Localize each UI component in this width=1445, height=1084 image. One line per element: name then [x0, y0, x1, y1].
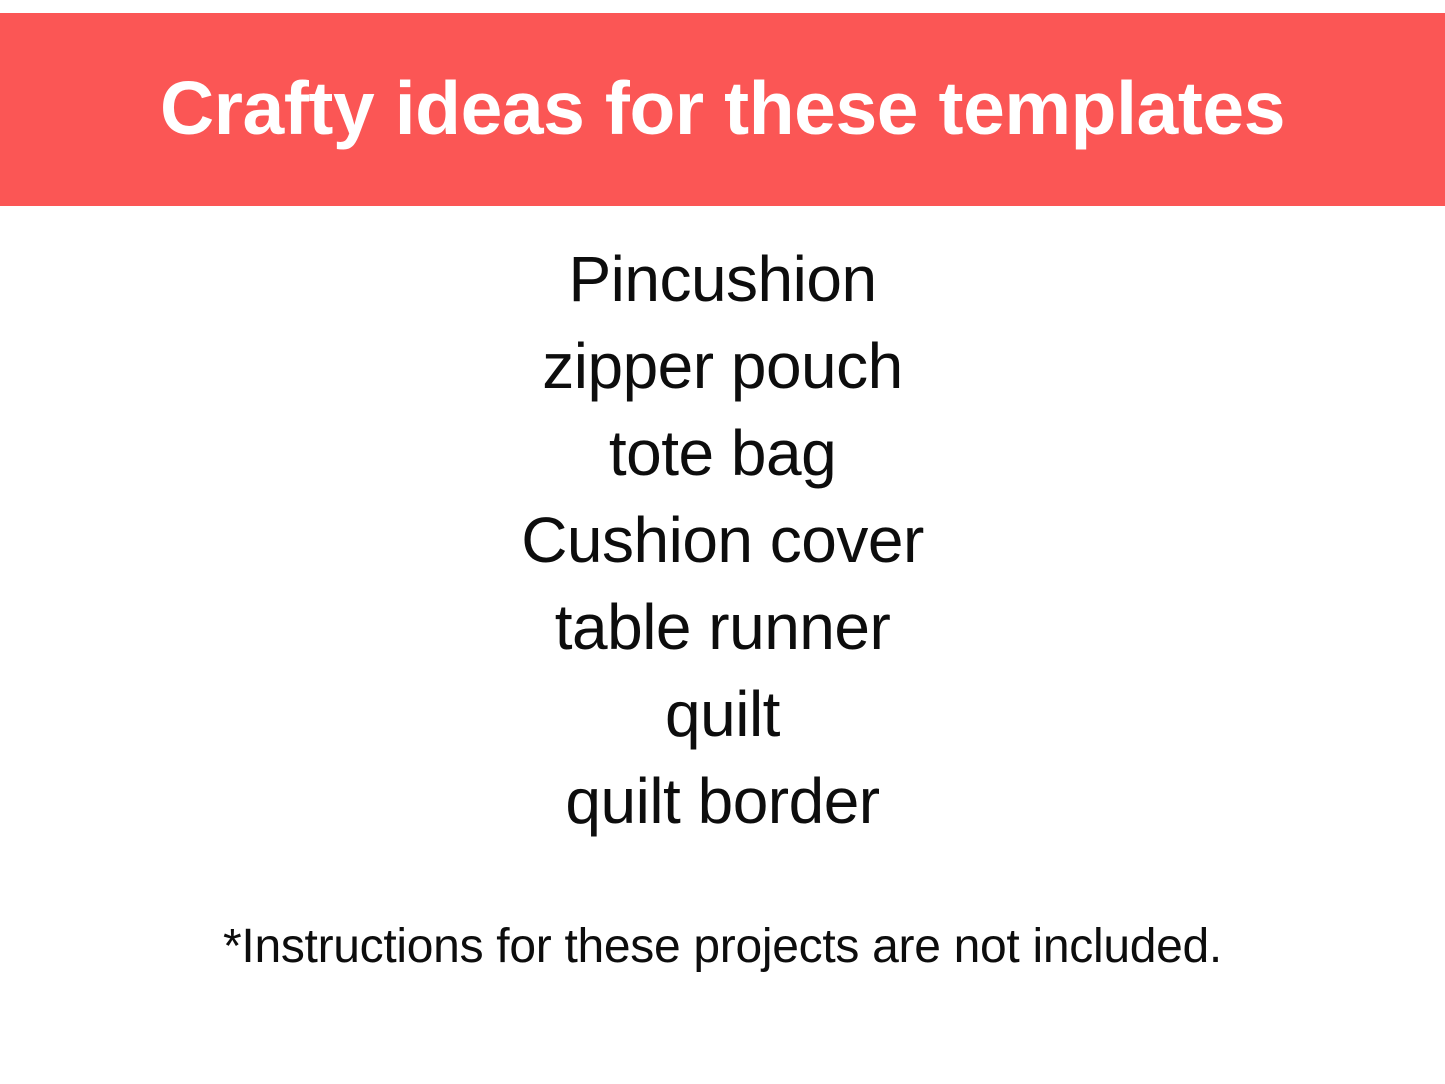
header-banner: Crafty ideas for these templates: [0, 13, 1445, 206]
footnote-disclaimer: *Instructions for these projects are not…: [0, 918, 1445, 976]
list-item: Cushion cover: [521, 497, 924, 584]
list-item: quilt border: [565, 758, 879, 845]
list-item: Pincushion: [568, 236, 876, 323]
list-item: quilt: [665, 671, 780, 758]
list-item: zipper pouch: [542, 323, 902, 410]
list-item: table runner: [555, 584, 891, 671]
list-item: tote bag: [609, 410, 836, 497]
ideas-list: Pincushion zipper pouch tote bag Cushion…: [0, 236, 1445, 845]
crafty-ideas-graphic: Crafty ideas for these templates Pincush…: [0, 0, 1445, 1084]
page-title: Crafty ideas for these templates: [160, 71, 1285, 146]
